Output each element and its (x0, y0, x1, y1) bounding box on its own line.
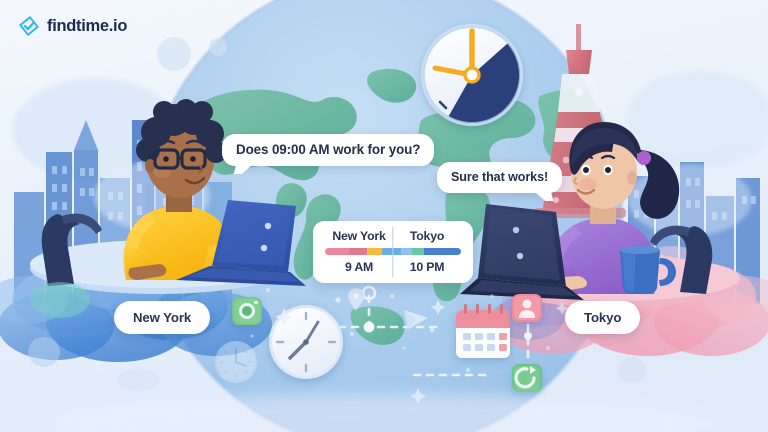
timezone-bar-segment (349, 248, 367, 255)
card-divider (392, 227, 393, 277)
chat-bubble-answer-text: Sure that works! (451, 170, 548, 184)
timezone-bar-segment (367, 248, 382, 255)
city-label-new-york: New York (114, 301, 210, 334)
analog-clock-small (215, 341, 257, 383)
timezone-city-right: Tokyo (393, 229, 461, 243)
scene-artwork (0, 0, 768, 432)
timezone-bar-segment (325, 248, 349, 255)
timezone-city-left: New York (325, 229, 393, 243)
timezone-comparison-card: New York Tokyo 9 AM 10 PM (313, 221, 473, 283)
timezone-bar-segment (412, 248, 424, 255)
contact-card-icon (512, 294, 542, 322)
calendar-icon (456, 304, 510, 358)
illustration-canvas: findtime.io Does 09:00 AM work for you? … (0, 0, 768, 432)
brand-name: findtime.io (47, 17, 127, 36)
timezone-time-right: 10 PM (393, 260, 461, 274)
connector-node (524, 332, 532, 340)
camera-icon (232, 297, 262, 325)
connector-node (364, 322, 375, 333)
city-label-tokyo: Tokyo (565, 301, 640, 334)
timezone-time-left: 9 AM (325, 260, 393, 274)
sync-refresh-icon (512, 364, 542, 392)
timezone-bar-segment (424, 248, 461, 255)
chat-bubble-question-text: Does 09:00 AM work for you? (236, 142, 420, 157)
chat-bubble-question: Does 09:00 AM work for you? (222, 134, 434, 166)
brand-logo[interactable]: findtime.io (18, 15, 127, 37)
timezone-bar-segment (401, 248, 412, 255)
chat-bubble-answer: Sure that works! (437, 162, 562, 193)
check-diamond-icon (18, 15, 40, 37)
